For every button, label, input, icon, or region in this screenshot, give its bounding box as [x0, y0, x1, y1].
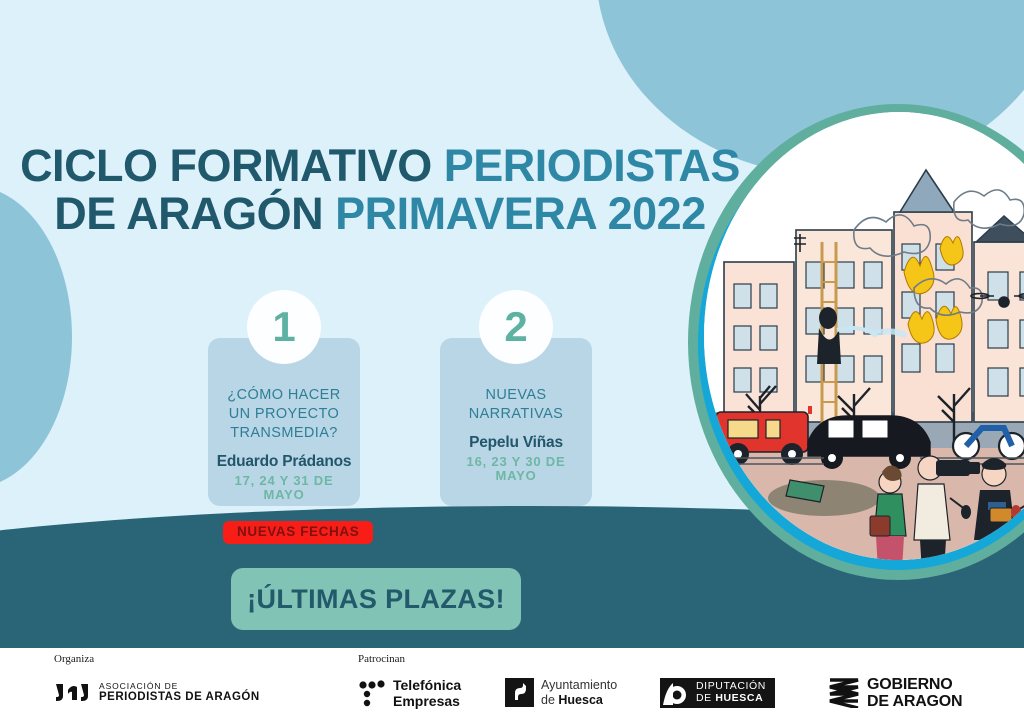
course-speaker-1: Eduardo Prádanos — [216, 453, 352, 470]
course-number-badge-2: 2 — [479, 290, 553, 364]
logo-diputacion-huesca[interactable]: DIPUTACIÓN DE HUESCA — [660, 678, 775, 708]
ayuntamiento-logo-text: Ayuntamiento de Huesca — [541, 678, 617, 708]
course-speaker-2: Pepelu Viñas — [448, 434, 584, 451]
title-line2-part2: PRIMAVERA 2022 — [335, 188, 706, 239]
course-dates-2: 16, 23 Y 30 DE MAYO — [448, 455, 584, 484]
apa-logo-line1: ASOCIACIÓN DE — [99, 682, 260, 691]
course-cards: 1 ¿CÓMO HACER UN PROYECTO TRANSMEDIA? Ed… — [200, 338, 630, 506]
course-card-1[interactable]: 1 ¿CÓMO HACER UN PROYECTO TRANSMEDIA? Ed… — [208, 338, 360, 506]
ayuntamiento-line2-bold: Huesca — [558, 693, 602, 707]
course-number-badge-1: 1 — [247, 290, 321, 364]
course-number-1: 1 — [272, 306, 295, 348]
course-card-2[interactable]: 2 NUEVAS NARRATIVAS Pepelu Viñas 16, 23 … — [440, 338, 592, 506]
ayuntamiento-line2-pre: de — [541, 693, 558, 707]
logo-asociacion-periodistas-aragon[interactable]: ASOCIACIÓN DE PERIODISTAS DE ARAGÓN — [54, 682, 260, 704]
logo-telefonica-empresas[interactable]: Telefónica Empresas — [358, 678, 461, 709]
telefonica-logo-text: Telefónica Empresas — [393, 678, 461, 709]
course-title-1: ¿CÓMO HACER UN PROYECTO TRANSMEDIA? — [216, 386, 352, 443]
poster-title: CICLO FORMATIVO PERIODISTAS DE ARAGÓN PR… — [0, 142, 760, 237]
course-title-2: NUEVAS NARRATIVAS — [448, 386, 584, 424]
gobierno-logo-text: GOBIERNO DE ARAGON — [867, 676, 962, 711]
last-places-button[interactable]: ¡ÚLTIMAS PLAZAS! — [231, 568, 521, 630]
gobierno-line2: DE ARAGON — [867, 693, 962, 710]
diputacion-mark-icon — [660, 678, 690, 708]
title-line-1: CICLO FORMATIVO PERIODISTAS — [0, 142, 760, 190]
title-line1-part1: CICLO FORMATIVO — [20, 140, 444, 191]
patrocinan-label: Patrocinan — [358, 653, 405, 665]
diputacion-logo-text: DIPUTACIÓN DE HUESCA — [696, 681, 766, 705]
title-line1-part2: PERIODISTAS — [444, 140, 740, 191]
gobierno-line1: GOBIERNO — [867, 676, 962, 693]
logo-ayuntamiento-huesca[interactable]: Ayuntamiento de Huesca — [505, 678, 617, 708]
course-dates-1: 17, 24 Y 31 DE MAYO — [216, 474, 352, 503]
apa-logo-line2: PERIODISTAS DE ARAGÓN — [99, 691, 260, 704]
diputacion-line2-pre: DE — [696, 692, 715, 704]
telefonica-line2: Empresas — [393, 694, 461, 710]
poster: CICLO FORMATIVO PERIODISTAS DE ARAGÓN PR… — [0, 0, 1024, 724]
title-line-2: DE ARAGÓN PRIMAVERA 2022 — [0, 190, 760, 238]
new-dates-badge: NUEVAS FECHAS — [223, 521, 373, 544]
apa-logo-icon — [54, 682, 92, 704]
course-number-2: 2 — [504, 306, 527, 348]
ayuntamiento-line1: Ayuntamiento — [541, 678, 617, 693]
logo-gobierno-aragon[interactable]: GOBIERNO DE ARAGON — [828, 676, 962, 711]
telefonica-dots-icon — [358, 680, 386, 708]
telefonica-line1: Telefónica — [393, 678, 461, 694]
diputacion-logo-box: DIPUTACIÓN DE HUESCA — [660, 678, 775, 708]
title-line2-part1: DE ARAGÓN — [54, 188, 335, 239]
ayuntamiento-animal-icon — [505, 678, 534, 707]
diputacion-line2-bold: HUESCA — [715, 692, 763, 704]
apa-logo-text: ASOCIACIÓN DE PERIODISTAS DE ARAGÓN — [99, 682, 260, 704]
gobierno-aragon-icon — [828, 678, 862, 708]
organiza-label: Organiza — [54, 653, 94, 665]
